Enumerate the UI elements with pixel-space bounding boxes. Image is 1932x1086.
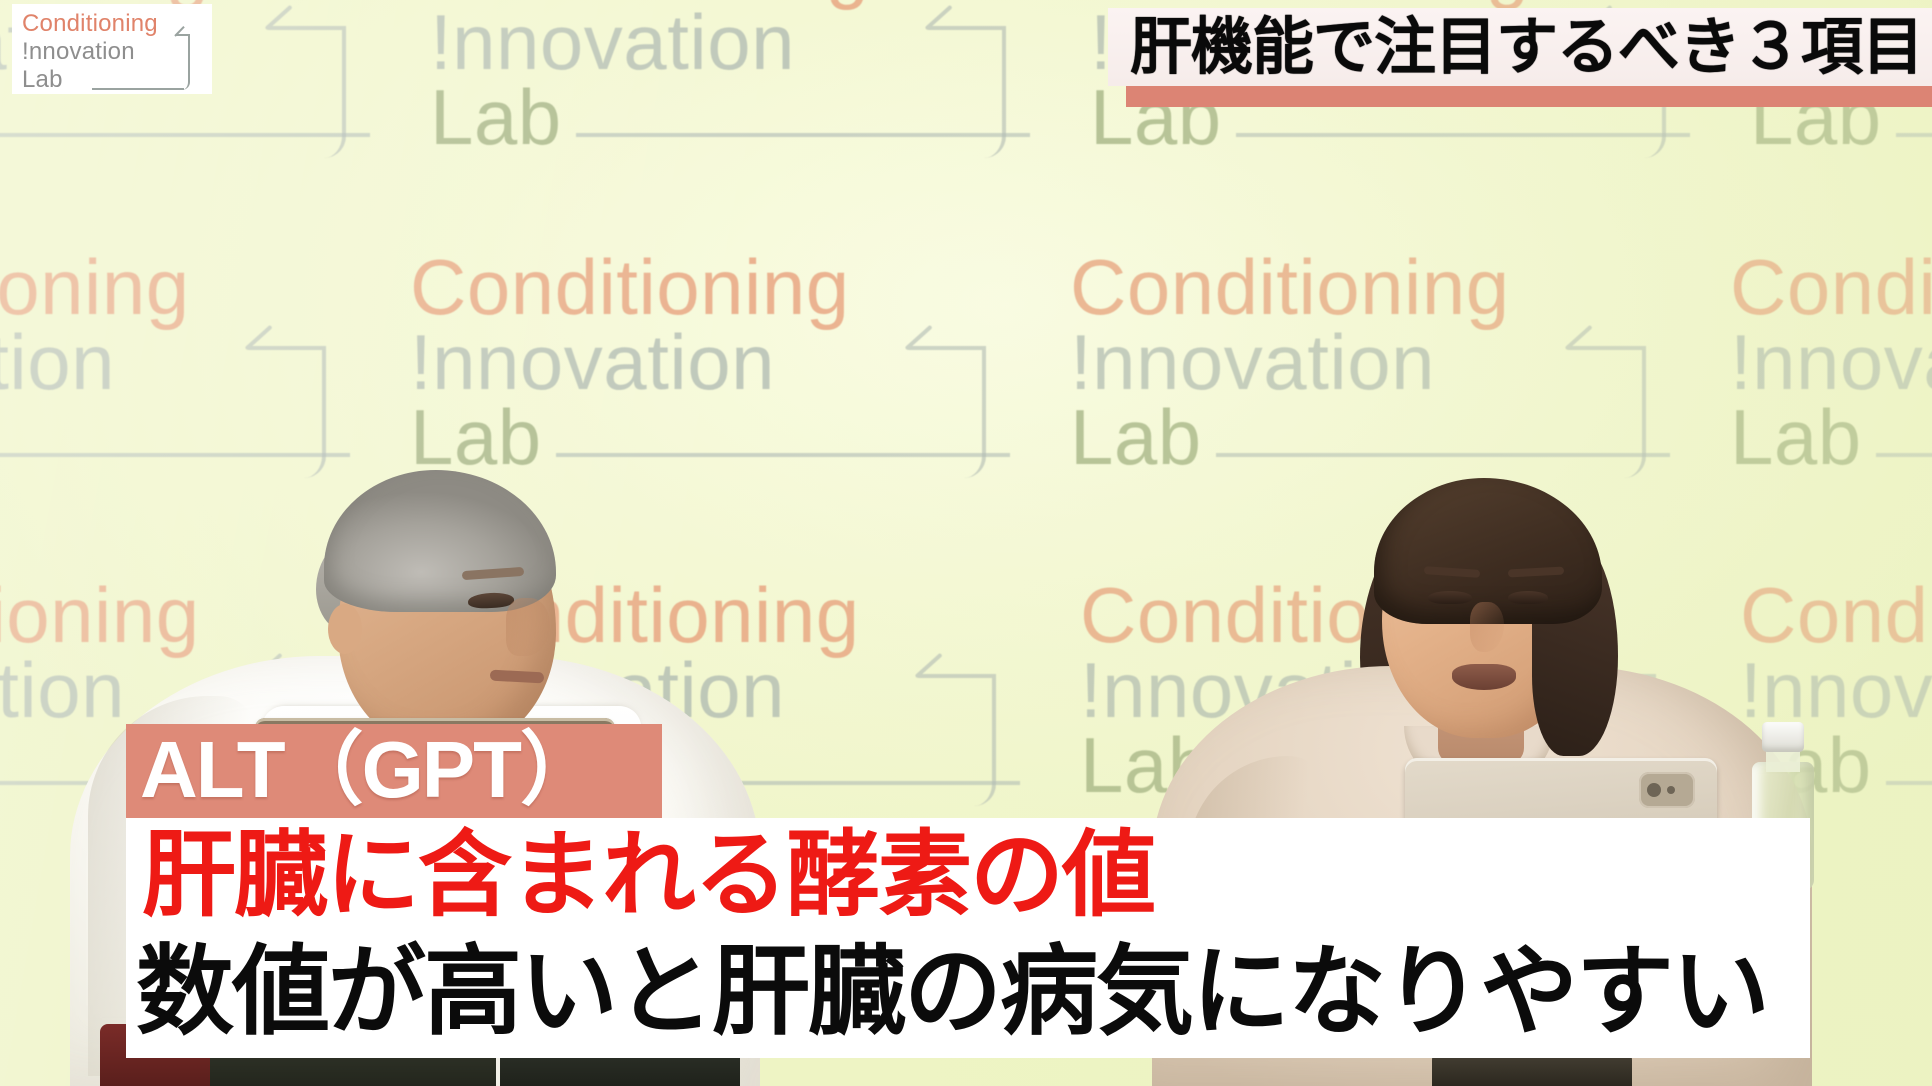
- logo-line-1: Conditioning: [22, 12, 158, 36]
- channel-logo-bug: Conditioning !nnovation Lab: [12, 4, 212, 94]
- eye-right: [1508, 591, 1548, 604]
- title-banner-text: 肝機能で注目するべき３項目: [1130, 10, 1923, 86]
- camera-module-icon: [1639, 772, 1695, 808]
- eye-left: [1428, 591, 1472, 604]
- lower-third-caption-box: 肝臓に含まれる酵素の値 数値が高いと肝臓の病気になりやすい: [126, 818, 1810, 1058]
- logo-bracket-icon: [176, 34, 190, 90]
- logo-rule: [92, 88, 184, 90]
- caption-line-2: 数値が高いと肝臓の病気になりやすい: [136, 930, 1768, 1052]
- mouth: [1452, 664, 1516, 690]
- lower-third-label-text: ALT（GPT）: [140, 720, 598, 820]
- logo-line-2: !nnovation: [22, 40, 135, 64]
- title-banner-underline: [1126, 86, 1932, 107]
- bottle-cap: [1762, 722, 1804, 752]
- logo-line-3: Lab: [22, 68, 63, 92]
- lower-third-label-chip: ALT（GPT）: [126, 724, 662, 818]
- ear: [328, 604, 362, 654]
- video-frame: Conditioning !nnovation Lab Conditioning…: [0, 0, 1932, 1086]
- caption-line-1: 肝臓に含まれる酵素の値: [142, 816, 1154, 934]
- topic-title-banner: 肝機能で注目するべき３項目: [1108, 8, 1932, 102]
- hair: [324, 470, 556, 612]
